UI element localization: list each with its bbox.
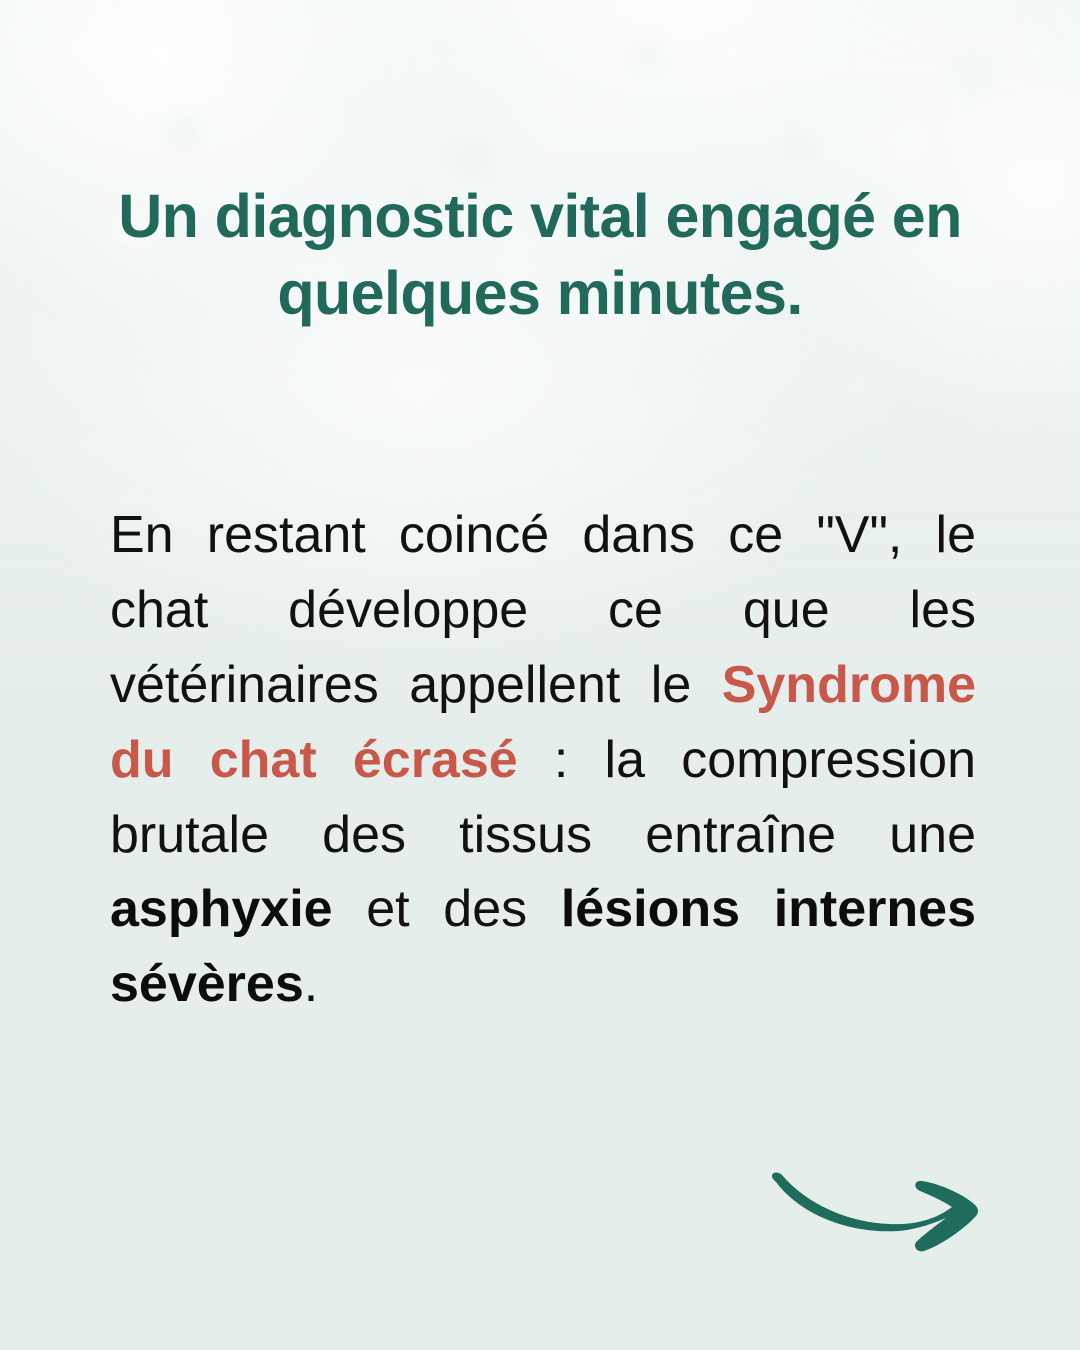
body-segment-connector: et des: [333, 880, 561, 938]
body-paragraph: En restant coincé dans ce "V", le chat d…: [110, 498, 976, 1022]
swipe-next-arrow[interactable]: [762, 1158, 982, 1258]
page-title: Un diagnostic vital engagé en quelques m…: [90, 178, 990, 332]
slide-canvas: Un diagnostic vital engagé en quelques m…: [0, 0, 1080, 1350]
curved-arrow-right-icon: [762, 1158, 982, 1258]
body-segment-asphyxie-bold: asphyxie: [110, 880, 333, 938]
body-segment-period: .: [304, 955, 318, 1013]
